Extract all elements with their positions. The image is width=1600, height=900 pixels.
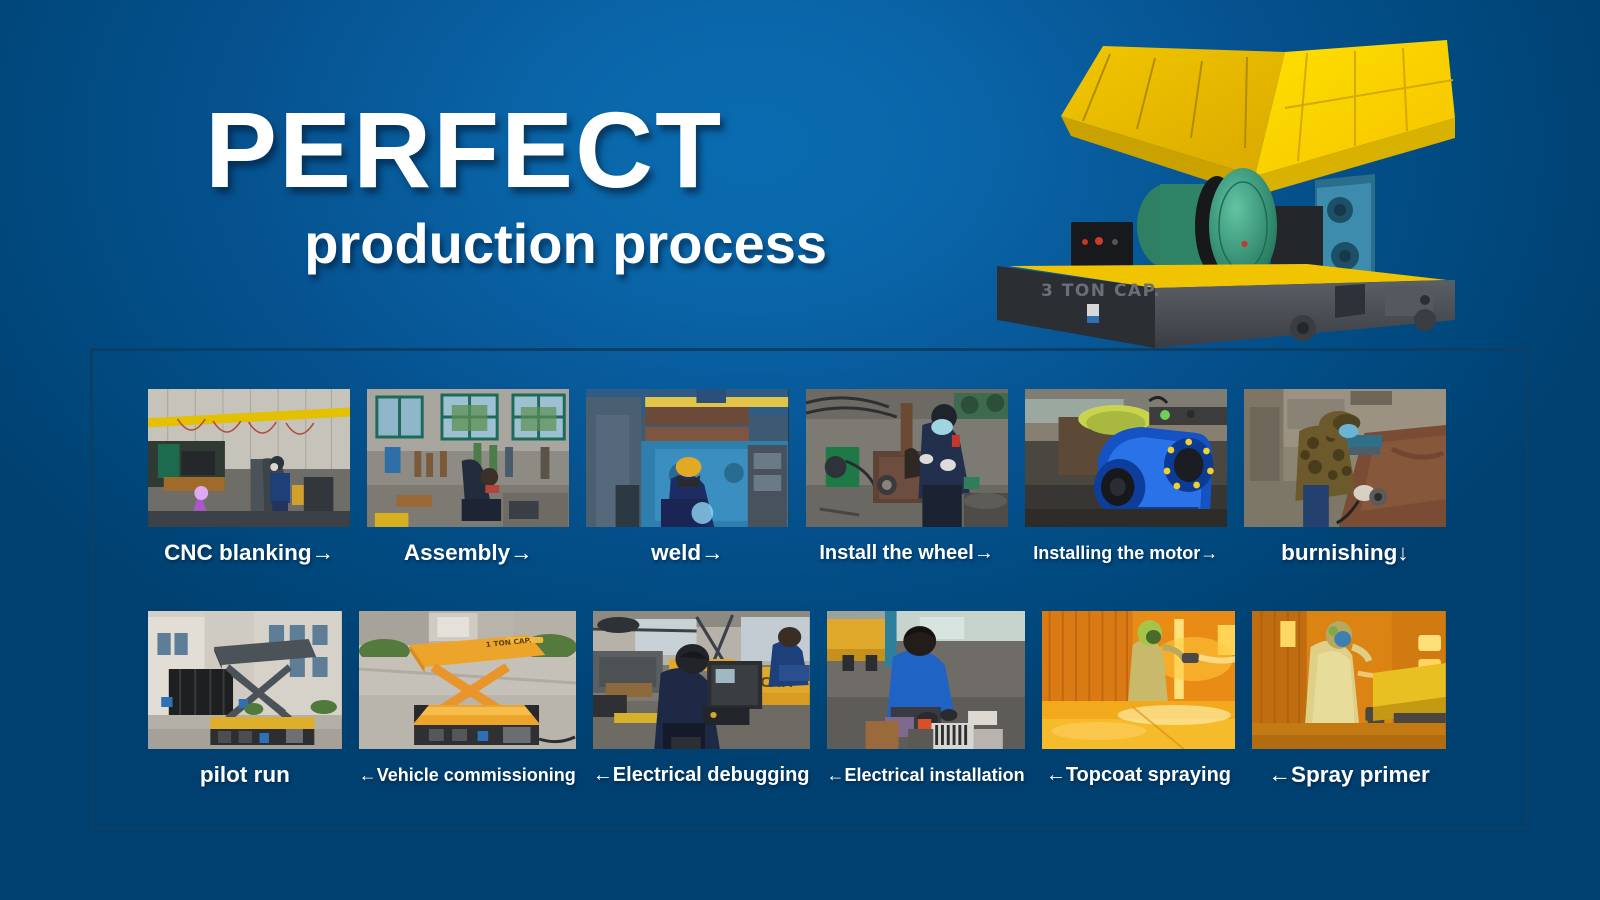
caption-vehicle-commissioning: ←Vehicle commissioning xyxy=(359,758,576,792)
electrical-installation-photo xyxy=(827,611,1025,749)
svg-text:●: ● xyxy=(1241,239,1248,248)
caption-label: Installing the motor xyxy=(1033,543,1200,564)
caption-label: Topcoat spraying xyxy=(1066,764,1231,787)
process-step-spray-primer[interactable]: ←Spray primer xyxy=(1252,611,1446,792)
burnishing-grinding-photo xyxy=(1244,389,1446,527)
arrow-right-icon: → xyxy=(701,540,724,566)
caption-weld: weld→ xyxy=(586,536,788,570)
arrow-right-icon: → xyxy=(510,540,533,566)
caption-label: weld xyxy=(651,540,701,566)
process-step-cnc-blanking[interactable]: CNC blanking→ xyxy=(148,389,350,570)
process-step-pilot-run[interactable]: pilot run xyxy=(148,611,342,792)
cnc-plasma-cutting-photo xyxy=(148,389,350,527)
process-step-vehicle-commissioning[interactable]: 1 TON CAP. ←Vehicle commissioning xyxy=(359,611,576,792)
caption-burnishing: burnishing↓ xyxy=(1244,536,1446,570)
process-row-1: CNC blanking→ xyxy=(148,389,1446,570)
process-step-installing-the-motor[interactable]: Installing the motor→ xyxy=(1025,389,1227,570)
process-step-burnishing[interactable]: burnishing↓ xyxy=(1244,389,1446,570)
topcoat-spraying-photo xyxy=(1042,611,1236,749)
caption-assembly: Assembly→ xyxy=(367,536,569,570)
caption-topcoat-spraying: ←Topcoat spraying xyxy=(1042,758,1236,792)
arrow-left-icon: ← xyxy=(1268,762,1291,788)
wheel-installation-photo xyxy=(806,389,1008,527)
arrow-down-icon: ↓ xyxy=(1397,540,1408,566)
process-step-assembly[interactable]: Assembly→ xyxy=(367,389,569,570)
frame-assembly-photo xyxy=(367,389,569,527)
arrow-right-icon: → xyxy=(312,540,335,566)
arrow-right-icon: → xyxy=(1200,543,1218,564)
arrow-left-icon: ← xyxy=(827,765,845,786)
headline-block: PERFECT production process xyxy=(205,95,885,276)
process-step-topcoat-spraying[interactable]: ←Topcoat spraying xyxy=(1042,611,1236,792)
welding-photo xyxy=(586,389,788,527)
caption-pilot-run: pilot run xyxy=(148,758,342,792)
caption-label: CNC blanking xyxy=(164,540,312,566)
caption-cnc-blanking: CNC blanking→ xyxy=(148,536,350,570)
caption-spray-primer: ←Spray primer xyxy=(1252,758,1446,792)
scissor-lift-pilot-run-photo xyxy=(148,611,342,749)
page-title: PERFECT xyxy=(205,95,885,205)
caption-electrical-installation: ←Electrical installation xyxy=(827,758,1025,792)
arrow-right-icon: → xyxy=(974,542,994,565)
electrical-debugging-photo: CAP. xyxy=(593,611,810,749)
process-row-2: pilot run xyxy=(148,611,1446,792)
orange-scissor-cart-photo: 1 TON CAP. xyxy=(359,611,576,749)
caption-electrical-debugging: ←Electrical debugging xyxy=(593,758,810,792)
process-step-electrical-installation[interactable]: ←Electrical installation xyxy=(827,611,1025,792)
page-subtitle: production process xyxy=(205,211,885,276)
caption-label: Assembly xyxy=(404,540,510,566)
caption-installing-the-motor: Installing the motor→ xyxy=(1025,536,1227,570)
process-step-electrical-debugging[interactable]: CAP. xyxy=(593,611,810,792)
spray-primer-photo xyxy=(1252,611,1446,749)
caption-label: Spray primer xyxy=(1291,762,1430,788)
caption-label: Electrical debugging xyxy=(613,764,810,787)
arrow-left-icon: ← xyxy=(593,764,613,787)
caption-label: Vehicle commissioning xyxy=(377,765,576,786)
process-step-weld[interactable]: weld→ xyxy=(586,389,788,570)
arrow-left-icon: ← xyxy=(1046,764,1066,787)
hero-body-text: 3 TON CAP. xyxy=(1041,281,1161,301)
caption-install-the-wheel: Install the wheel→ xyxy=(806,536,1008,570)
arrow-left-icon: ← xyxy=(359,765,377,786)
process-step-install-the-wheel[interactable]: Install the wheel→ xyxy=(806,389,1008,570)
caption-label: Install the wheel xyxy=(819,542,973,565)
caption-label: pilot run xyxy=(200,762,290,788)
blue-gearmotor-photo xyxy=(1025,389,1227,527)
hero-transfer-cart-image: ● 3 TON CAP. xyxy=(955,28,1475,373)
caption-label: burnishing xyxy=(1281,540,1397,566)
process-panel: CNC blanking→ xyxy=(90,348,1528,830)
poster-canvas: PERFECT production process xyxy=(0,0,1600,900)
caption-label: Electrical installation xyxy=(845,765,1025,786)
